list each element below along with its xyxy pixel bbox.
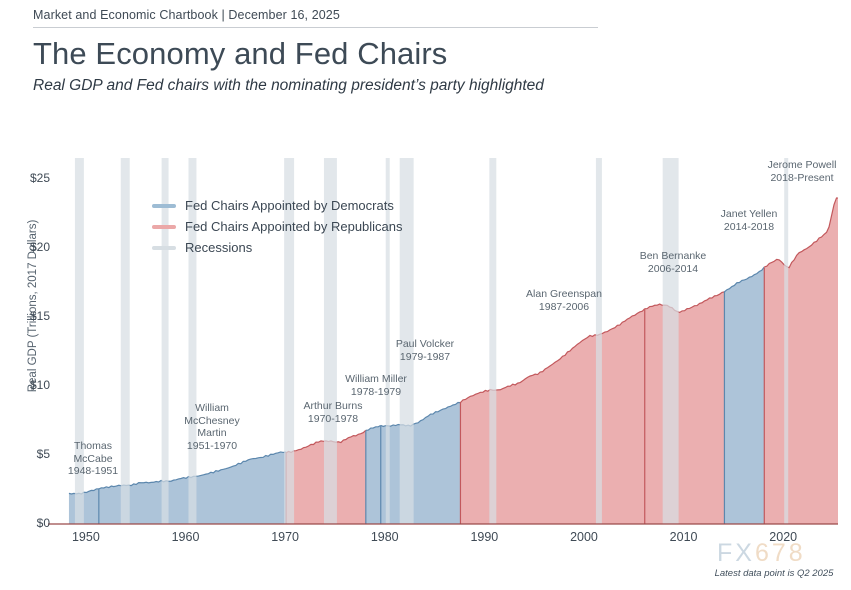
legend-item: Fed Chairs Appointed by Republicans (152, 217, 403, 236)
chair-annotation-line: 2006-2014 (593, 263, 753, 276)
chair-annotation-line: 2018-Present (722, 172, 851, 185)
chair-annotation-line: 1987-2006 (484, 301, 644, 314)
chair-annotation-line: Janet Yellen (669, 208, 829, 221)
recession-band (596, 158, 602, 524)
legend-label: Fed Chairs Appointed by Republicans (185, 219, 403, 234)
watermark: FX678 (717, 539, 806, 568)
legend-label: Recessions (185, 240, 252, 255)
chair-annotation: Arthur Burns1970-1978 (253, 400, 413, 425)
chair-annotation-line: William Miller (296, 373, 456, 386)
chair-annotation-line: 1978-1979 (296, 386, 456, 399)
y-tick-label: $10 (8, 378, 50, 392)
chair-annotation: Ben Bernanke2006-2014 (593, 250, 753, 275)
x-tick-label: 1970 (255, 530, 315, 544)
chair-annotation-line: Jerome Powell (722, 159, 851, 172)
x-tick-label: 1990 (454, 530, 514, 544)
chair-annotation-line: 2014-2018 (669, 221, 829, 234)
x-tick-label: 1960 (156, 530, 216, 544)
footnote: Latest data point is Q2 2025 (700, 568, 848, 579)
area-jerome-powell (764, 198, 838, 524)
area-william-miller (366, 425, 381, 524)
chair-annotation: Paul Volcker1979-1987 (345, 338, 505, 363)
watermark-part-a: FX (717, 539, 755, 567)
chair-annotation-line: 1951-1970 (132, 440, 292, 453)
chair-annotation-line: 1979-1987 (345, 351, 505, 364)
chair-annotation-line: Martin (132, 427, 292, 440)
chair-annotation-line: 1970-1978 (253, 413, 413, 426)
legend-swatch-icon (152, 246, 176, 250)
x-tick-label: 2010 (654, 530, 714, 544)
area-janet-yellen (724, 267, 764, 524)
y-tick-label: $15 (8, 309, 50, 323)
chair-annotation-line: Arthur Burns (253, 400, 413, 413)
chair-annotation-line: 1948-1951 (13, 465, 173, 478)
chair-annotation: Jerome Powell2018-Present (722, 159, 851, 184)
chart-legend: Fed Chairs Appointed by DemocratsFed Cha… (152, 196, 403, 259)
y-tick-label: $0 (8, 516, 50, 530)
chair-annotation: William Miller1978-1979 (296, 373, 456, 398)
watermark-part-b: 678 (755, 539, 806, 567)
y-tick-label: $25 (8, 171, 50, 185)
x-tick-label: 2000 (554, 530, 614, 544)
legend-swatch-icon (152, 204, 176, 208)
legend-item: Recessions (152, 238, 403, 257)
chair-annotation-line: McCabe (13, 453, 173, 466)
legend-label: Fed Chairs Appointed by Democrats (185, 198, 394, 213)
y-tick-label: $20 (8, 240, 50, 254)
x-tick-label: 1950 (56, 530, 116, 544)
legend-item: Fed Chairs Appointed by Democrats (152, 196, 403, 215)
chair-annotation-line: Ben Bernanke (593, 250, 753, 263)
chair-annotation: Janet Yellen2014-2018 (669, 208, 829, 233)
chair-annotation: Alan Greenspan1987-2006 (484, 288, 644, 313)
legend-swatch-icon (152, 225, 176, 229)
x-tick-label: 1980 (355, 530, 415, 544)
chart-page: Market and Economic Chartbook | December… (0, 0, 851, 590)
chair-annotation-line: Paul Volcker (345, 338, 505, 351)
chair-annotation-line: Alan Greenspan (484, 288, 644, 301)
gdp-area-chart (0, 0, 851, 590)
area-ben-bernanke (645, 292, 725, 524)
